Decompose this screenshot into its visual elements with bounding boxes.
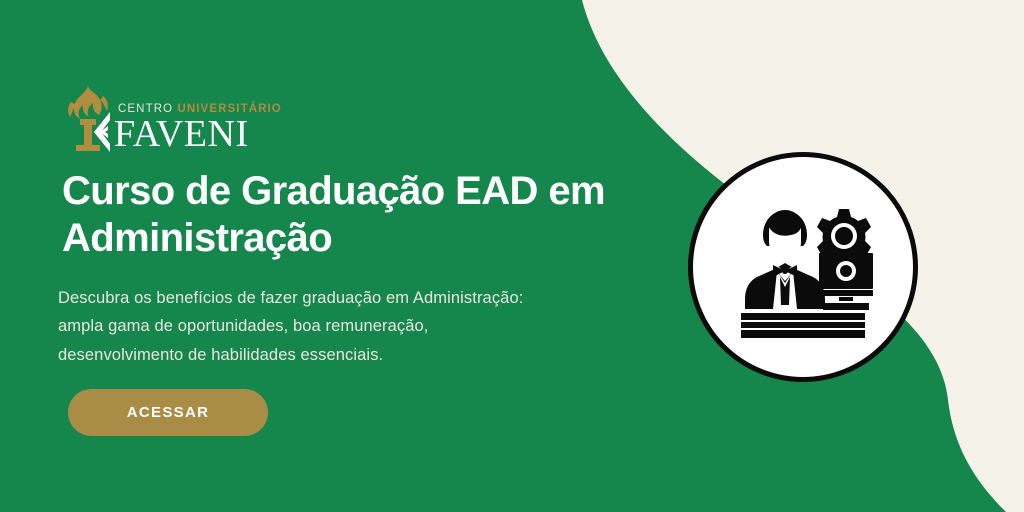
- page-title: Curso de Graduação EAD em Administração: [62, 168, 622, 262]
- illustration-badge: [688, 152, 918, 382]
- description-text: Descubra os benefícios de fazer graduaçã…: [58, 284, 598, 369]
- logo-wordmark: CENTRO UNIVERSITÁRIO FAVENI: [114, 104, 282, 154]
- acessar-button[interactable]: ACESSAR: [68, 389, 268, 436]
- torch-icon: [58, 82, 120, 154]
- businessman-at-desk-with-monitor-and-gear-icon: [727, 191, 879, 343]
- description-line-1: Descubra os benefícios de fazer graduaçã…: [58, 284, 598, 312]
- description-line-3: desenvolvimento de habilidades essenciai…: [58, 341, 598, 369]
- promo-banner: CENTRO UNIVERSITÁRIO FAVENI Curso de Gra…: [0, 0, 1024, 512]
- logo-name: FAVENI: [114, 117, 249, 152]
- description-line-2: ampla gama de oportunidades, boa remuner…: [58, 312, 598, 340]
- faveni-logo[interactable]: CENTRO UNIVERSITÁRIO FAVENI: [58, 82, 282, 154]
